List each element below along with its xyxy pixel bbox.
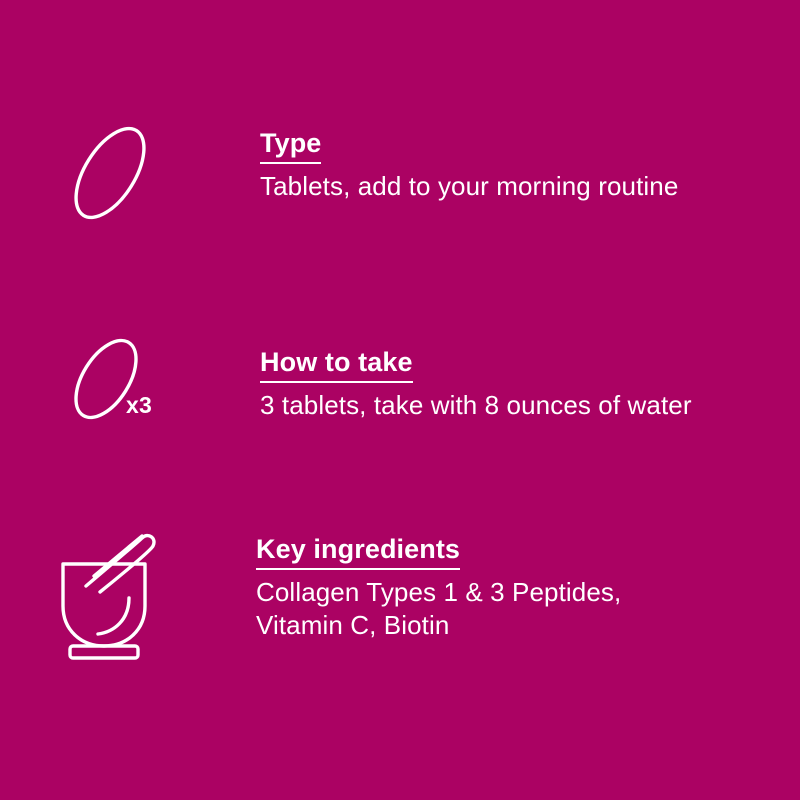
icon-cell-type (0, 118, 260, 228)
section-heading-key-ingredients: Key ingredients (256, 532, 460, 570)
info-row-key-ingredients: Key ingredients Collagen Types 1 & 3 Pep… (0, 520, 800, 660)
mortar-and-pestle-icon (56, 520, 166, 660)
section-body-key-ingredients: Collagen Types 1 & 3 Peptides, Vitamin C… (256, 576, 800, 642)
section-body-how-to-take: 3 tablets, take with 8 ounces of water (260, 389, 800, 422)
info-row-how-to-take: How to take 3 tablets, take with 8 ounce… (0, 333, 800, 428)
tablet-pill-icon (60, 118, 160, 228)
text-cell-how-to-take: How to take 3 tablets, take with 8 ounce… (260, 333, 800, 422)
quantity-multiplier-label: x3 (126, 394, 152, 417)
info-row-type: Type Tablets, add to your morning routin… (0, 118, 800, 228)
section-heading-how-to-take: How to take (260, 345, 413, 383)
icon-cell-key-ingredients (0, 520, 256, 660)
section-heading-type: Type (260, 126, 321, 164)
product-usage-infographic: Type Tablets, add to your morning routin… (0, 0, 800, 800)
text-cell-type: Type Tablets, add to your morning routin… (260, 118, 800, 203)
text-cell-key-ingredients: Key ingredients Collagen Types 1 & 3 Pep… (256, 520, 800, 642)
section-body-type: Tablets, add to your morning routine (260, 170, 800, 203)
